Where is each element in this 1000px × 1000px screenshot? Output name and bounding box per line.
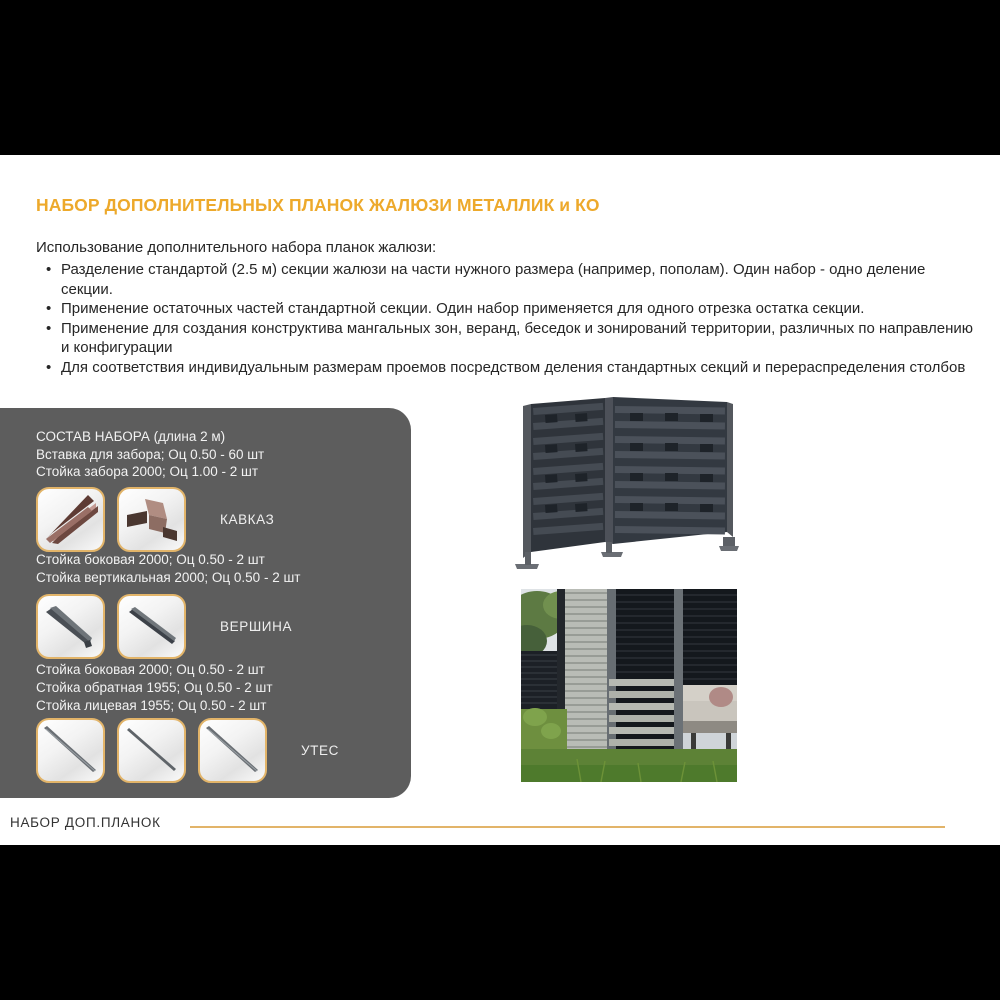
profile-bar-dark-long-icon[interactable] <box>117 594 186 659</box>
outdoor-louver-screen-photo <box>521 589 737 782</box>
product-group-vershina: ВЕРШИНА <box>36 594 292 659</box>
list-item: Применение остаточных частей стандартной… <box>36 299 976 319</box>
product-group-label: УТЕС <box>301 743 339 758</box>
product-group-kavkaz: КАВКАЗ <box>36 487 274 552</box>
metal-louver-fence-render <box>505 392 745 578</box>
spec-text-vershina: Стойка боковая 2000; Оц 0.50 - 2 шт Стой… <box>36 551 406 587</box>
product-group-label: ВЕРШИНА <box>220 619 292 634</box>
profile-bar-dark-icon[interactable] <box>36 594 105 659</box>
footer-divider <box>190 826 945 828</box>
bracket-bend-brown-icon[interactable] <box>117 487 186 552</box>
profile-thin-rail-icon[interactable] <box>36 718 105 783</box>
letterbox-top <box>0 0 1000 155</box>
list-item: Для соответствия индивидуальным размерам… <box>36 358 976 378</box>
spec-text-utes: Стойка боковая 2000; Оц 0.50 - 2 шт Стой… <box>36 661 406 715</box>
page-title: НАБОР ДОПОЛНИТЕЛЬНЫХ ПЛАНОК ЖАЛЮЗИ МЕТАЛ… <box>36 195 600 216</box>
bullet-list: Разделение стандартой (2.5 м) секции жал… <box>36 260 976 377</box>
footer-label: НАБОР ДОП.ПЛАНОК <box>10 815 161 830</box>
set-composition-heading: СОСТАВ НАБОРА (длина 2 м) Вставка для за… <box>36 428 396 481</box>
profile-bar-brown-icon[interactable] <box>36 487 105 552</box>
list-item: Разделение стандартой (2.5 м) секции жал… <box>36 260 976 299</box>
intro-text: Использование дополнительного набора пла… <box>36 238 436 258</box>
letterbox-bottom <box>0 845 1000 1000</box>
list-item: Применение для создания конструктива ман… <box>36 319 976 358</box>
product-group-utes: УТЕС <box>36 718 339 783</box>
profile-thin-rail-icon[interactable] <box>198 718 267 783</box>
profile-thin-rail-icon[interactable] <box>117 718 186 783</box>
slide-root: НАБОР ДОПОЛНИТЕЛЬНЫХ ПЛАНОК ЖАЛЮЗИ МЕТАЛ… <box>0 0 1000 1000</box>
product-group-label: КАВКАЗ <box>220 512 274 527</box>
